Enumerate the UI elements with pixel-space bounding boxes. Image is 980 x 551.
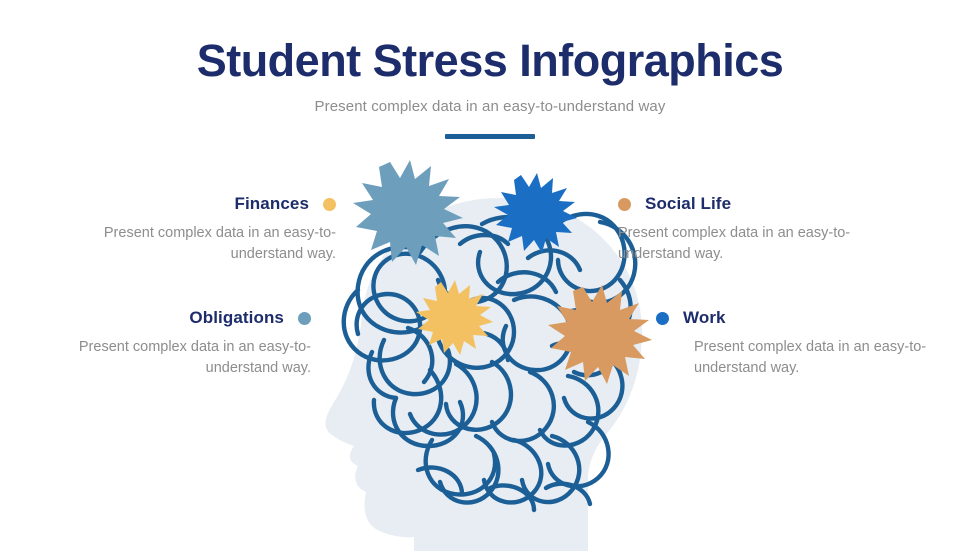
item-social-life-header: Social Life bbox=[618, 194, 918, 214]
item-obligations-description: Present complex data in an easy-to-under… bbox=[11, 337, 311, 378]
item-obligations[interactable]: Obligations Present complex data in an e… bbox=[11, 308, 311, 378]
item-social-life-dot-icon bbox=[618, 198, 631, 211]
item-finances-title: Finances bbox=[235, 194, 310, 214]
title-divider bbox=[445, 134, 535, 139]
item-obligations-title: Obligations bbox=[189, 308, 284, 328]
item-work[interactable]: Work Present complex data in an easy-to-… bbox=[656, 308, 956, 378]
item-social-life-description: Present complex data in an easy-to-under… bbox=[618, 223, 868, 264]
item-finances-description: Present complex data in an easy-to-under… bbox=[36, 223, 336, 264]
item-obligations-header: Obligations bbox=[11, 308, 311, 328]
item-social-life[interactable]: Social Life Present complex data in an e… bbox=[618, 194, 918, 264]
page-title: Student Stress Infographics bbox=[0, 36, 980, 86]
item-work-title: Work bbox=[683, 308, 726, 328]
item-social-life-title: Social Life bbox=[645, 194, 731, 214]
item-finances-dot-icon bbox=[323, 198, 336, 211]
page-subtitle: Present complex data in an easy-to-under… bbox=[0, 98, 980, 115]
item-obligations-dot-icon bbox=[298, 312, 311, 325]
item-work-dot-icon bbox=[656, 312, 669, 325]
item-finances-header: Finances bbox=[36, 194, 336, 214]
slide-header: Student Stress Infographics Present comp… bbox=[0, 36, 980, 139]
item-work-header: Work bbox=[656, 308, 956, 328]
item-finances[interactable]: Finances Present complex data in an easy… bbox=[36, 194, 336, 264]
item-work-description: Present complex data in an easy-to-under… bbox=[694, 337, 944, 378]
infographic-slide: Student Stress Infographics Present comp… bbox=[0, 0, 980, 551]
